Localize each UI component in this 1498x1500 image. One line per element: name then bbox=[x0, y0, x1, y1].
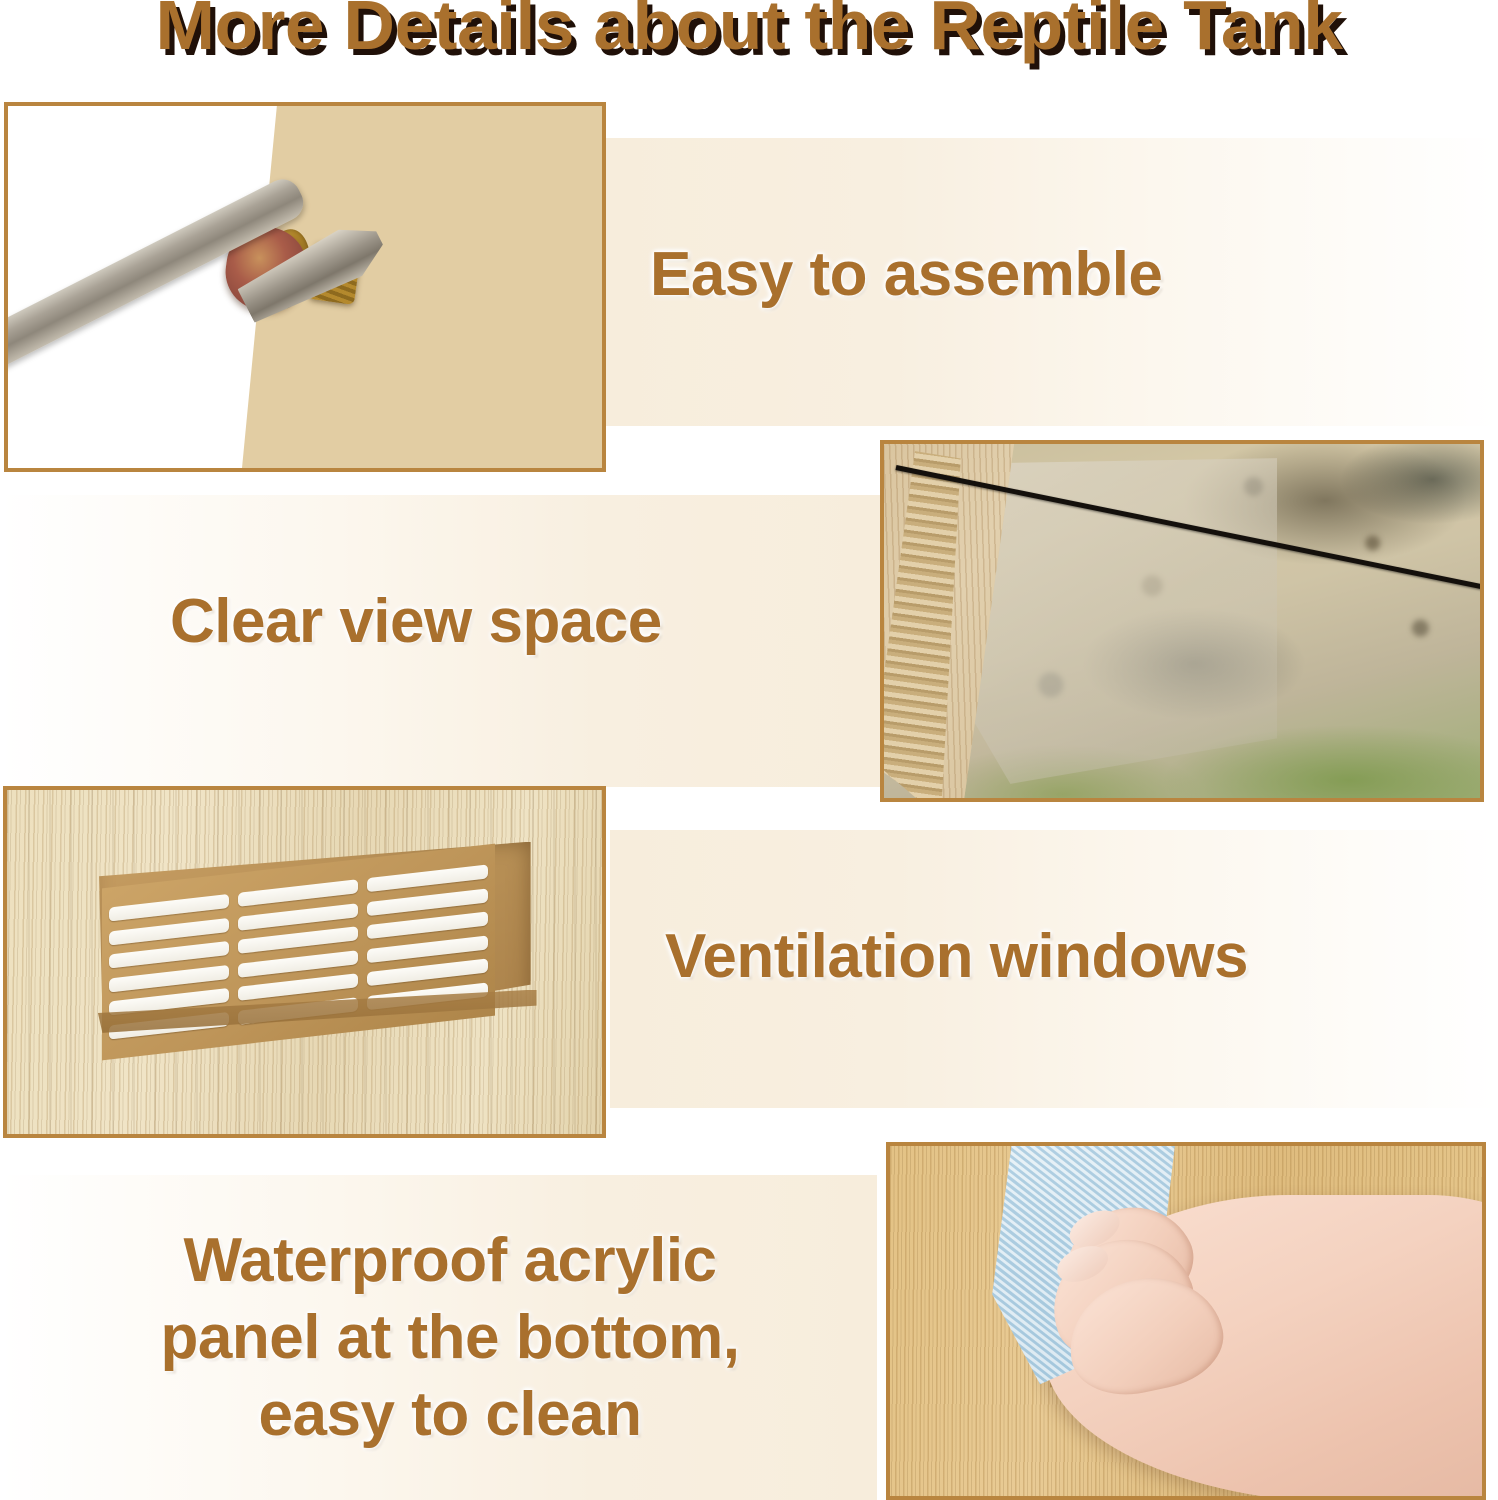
photo-inner-assemble bbox=[8, 106, 602, 468]
photo-ventilation-windows bbox=[3, 786, 606, 1138]
vent-slot bbox=[368, 888, 488, 916]
vent-slot bbox=[368, 911, 488, 939]
vent-slot bbox=[109, 894, 229, 922]
vent-slot bbox=[109, 964, 229, 992]
caption-line: easy to clean bbox=[55, 1376, 845, 1453]
vent-slot bbox=[238, 973, 358, 1001]
photo-waterproof-acrylic-panel bbox=[886, 1142, 1486, 1500]
photo-inner-clear-view bbox=[884, 444, 1480, 798]
vent-slot bbox=[238, 902, 358, 930]
vent-slot bbox=[109, 941, 229, 969]
vent-slot bbox=[238, 879, 358, 907]
caption-easy-to-assemble: Easy to assemble bbox=[650, 238, 1450, 312]
vent-slot bbox=[368, 935, 488, 963]
caption-line: panel at the bottom, bbox=[55, 1299, 845, 1376]
photo-inner-cleaning bbox=[890, 1146, 1482, 1496]
vent-slot bbox=[238, 949, 358, 977]
caption-waterproof-acrylic-panel: Waterproof acrylic panel at the bottom, … bbox=[55, 1222, 845, 1453]
vent-slot bbox=[109, 917, 229, 945]
photo-clear-view-space bbox=[880, 440, 1484, 802]
vent-slot bbox=[238, 926, 358, 954]
vent-slot bbox=[368, 958, 488, 986]
vent-slot bbox=[368, 864, 488, 892]
caption-clear-view-space: Clear view space bbox=[170, 585, 930, 659]
photo-easy-to-assemble bbox=[4, 102, 606, 472]
infographic-canvas: More Details about the Reptile Tank Easy… bbox=[0, 0, 1498, 1500]
photo-inner-ventilation bbox=[7, 790, 602, 1134]
page-title: More Details about the Reptile Tank bbox=[0, 0, 1498, 64]
caption-ventilation-windows: Ventilation windows bbox=[665, 920, 1485, 994]
caption-line: Waterproof acrylic bbox=[55, 1222, 845, 1299]
